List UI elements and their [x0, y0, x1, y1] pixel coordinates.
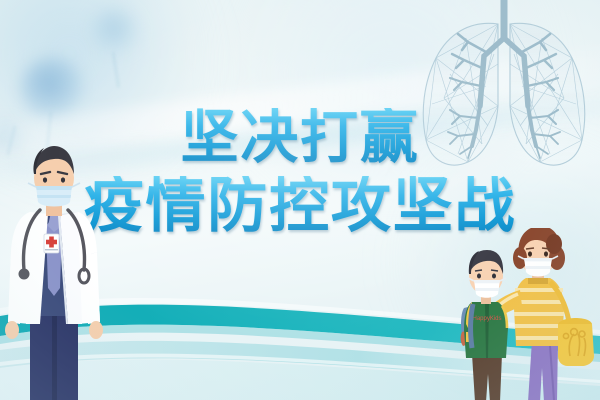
- boy-eye-left: [477, 274, 481, 279]
- mother-mask-pleat-1: [524, 258, 552, 261]
- boy-mask-pleat-1: [474, 280, 500, 283]
- doctor-eye-left: [43, 177, 47, 182]
- doctor-hand-left: [5, 321, 19, 339]
- mother-eye-left: [528, 251, 532, 256]
- doctor-arm-left: [8, 252, 22, 324]
- dandelion-stalk: [112, 52, 120, 88]
- doctor-leg-gap: [52, 308, 57, 400]
- boy-mask-pleat-2: [475, 288, 499, 291]
- boy-pants: [472, 354, 502, 400]
- poster-canvas: 坚决打赢 疫情防控攻坚战: [0, 0, 600, 400]
- family-illustration: HappyKids: [458, 228, 600, 400]
- mother-mask-pleat-2: [525, 266, 551, 269]
- boy-jacket-logo-text: HappyKids: [472, 316, 501, 322]
- doctor-illustration: [0, 140, 116, 400]
- mother-hair-shade: [546, 234, 562, 254]
- boy-eye-right: [492, 274, 496, 279]
- doctor-eye-right: [61, 177, 65, 182]
- doctor-arm-right: [86, 252, 100, 324]
- boy-backpack-strap: [471, 304, 473, 348]
- mother-collar: [528, 278, 548, 284]
- dandelion-puff: [88, 6, 140, 56]
- doctor-mask-pleat-2: [37, 195, 71, 198]
- doctor-mask-pleat-1: [36, 186, 72, 190]
- mother-eye-right: [544, 251, 548, 256]
- boy-illustration: HappyKids: [461, 250, 508, 400]
- stethoscope-chestpiece-left: [19, 269, 30, 280]
- doctor-hand-right: [89, 321, 103, 339]
- badge-line: [45, 249, 58, 250]
